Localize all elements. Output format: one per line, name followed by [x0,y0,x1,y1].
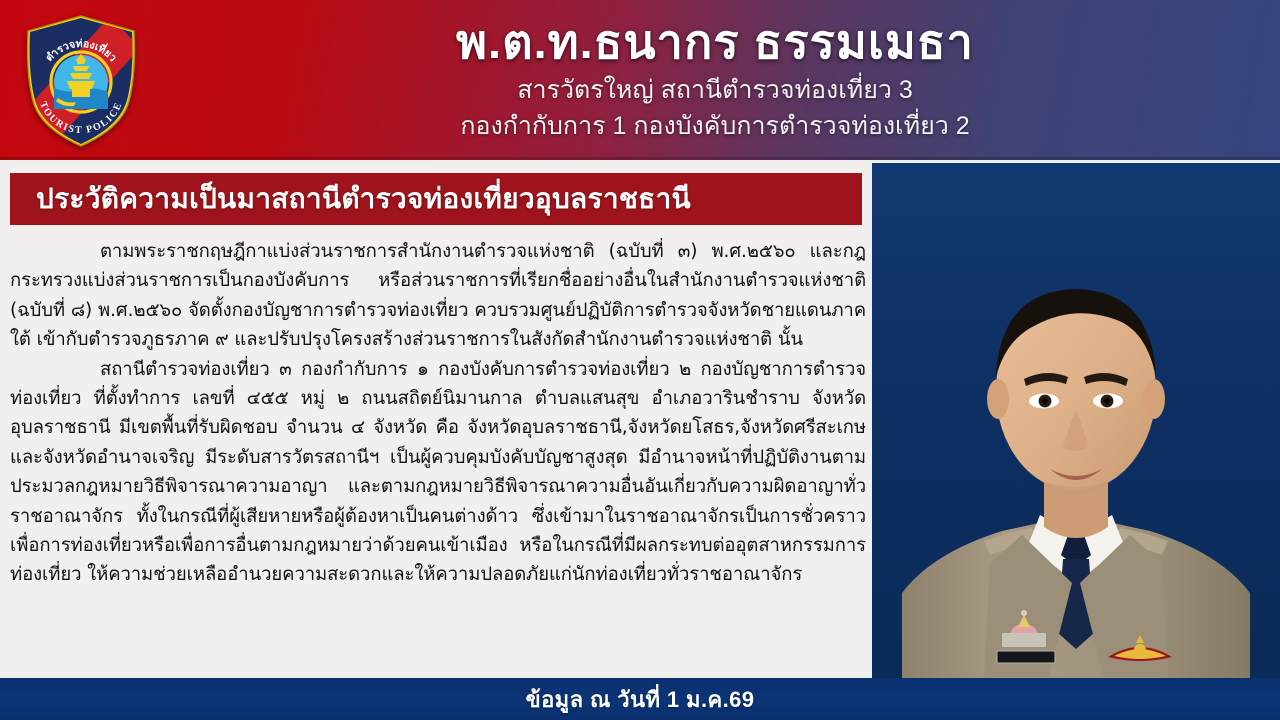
header-banner: ตำรวจท่องเที่ยว TOURIST POLICE พ.ต.ท.ธนา… [0,0,1280,160]
poster-page: ตำรวจท่องเที่ยว TOURIST POLICE พ.ต.ท.ธนา… [0,0,1280,720]
section-banner: ประวัติความเป็นมาสถานีตำรวจท่องเที่ยวอุบ… [10,173,862,225]
header-subtitle-line-2: กองกำกับการ 1 กองบังคับการตำรวจท่องเที่ย… [180,108,1250,144]
shield-icon: ตำรวจท่องเที่ยว TOURIST POLICE [22,14,140,148]
tourist-police-badge-logo: ตำรวจท่องเที่ยว TOURIST POLICE [22,14,140,148]
data-as-of-date: ข้อมูล ณ วันที่ 1 ม.ค.69 [526,682,755,717]
paragraph-1: ตามพระราชกฤษฎีกาแบ่งส่วนราชการสำนักงานตำ… [10,237,866,355]
footer-bar: ข้อมูล ณ วันที่ 1 ม.ค.69 [0,678,1280,720]
officer-name-title: พ.ต.ท.ธนากร ธรรมเมธา [180,12,1250,72]
content-panel: ประวัติความเป็นมาสถานีตำรวจท่องเที่ยวอุบ… [0,163,872,678]
header-subtitle-line-1: สารวัตรใหญ่ สถานีตำรวจท่องเที่ยว 3 [180,72,1250,108]
history-body-text: ตามพระราชกฤษฎีกาแบ่งส่วนราชการสำนักงานตำ… [10,237,866,590]
avatar [872,163,1280,678]
section-title: ประวัติความเป็นมาสถานีตำรวจท่องเที่ยวอุบ… [10,177,691,221]
header-text-block: พ.ต.ท.ธนากร ธรรมเมธา สารวัตรใหญ่ สถานีตำ… [180,12,1250,144]
paragraph-2: สถานีตำรวจท่องเที่ยว ๓ กองกำกับการ ๑ กอง… [10,355,866,590]
officer-portrait-panel [872,163,1280,678]
